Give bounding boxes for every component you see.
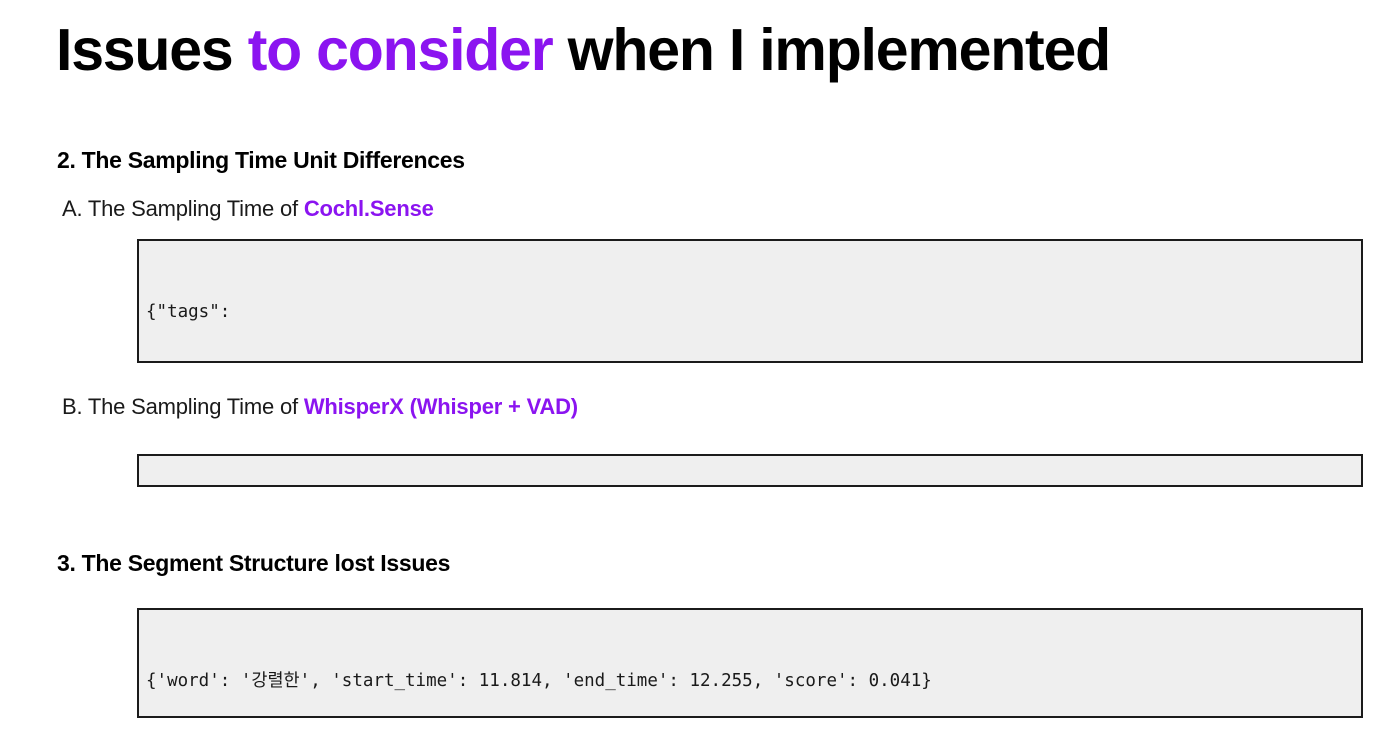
- subheading-a-prefix: A. The Sampling Time of: [62, 196, 304, 221]
- code-line: {'word': '강렬한', 'start_time': 11.814, 'e…: [146, 668, 1361, 694]
- section-heading-3: 3. The Segment Structure lost Issues: [57, 550, 450, 577]
- slide-title-accent: to consider: [248, 17, 553, 83]
- code-block-segment-structure: {'word': '강렬한', 'start_time': 11.814, 'e…: [137, 608, 1363, 718]
- slide-title-part2: when I implemented: [552, 17, 1109, 83]
- subheading-b-accent: WhisperX (Whisper + VAD): [304, 394, 578, 419]
- slide-title: Issues to consider when I implemented: [56, 17, 1110, 83]
- subheading-b: B. The Sampling Time of WhisperX (Whispe…: [62, 394, 578, 420]
- slide-title-part1: Issues: [56, 17, 248, 83]
- subheading-b-prefix: B. The Sampling Time of: [62, 394, 304, 419]
- code-block-cochl-sense: {"tags": [{"probability": 0.453152477741…: [137, 239, 1363, 363]
- subheading-a-accent: Cochl.Sense: [304, 196, 434, 221]
- section-heading-2: 2. The Sampling Time Unit Differences: [57, 147, 465, 174]
- subheading-a: A. The Sampling Time of Cochl.Sense: [62, 196, 434, 222]
- code-line: {"tags":: [146, 299, 1361, 325]
- code-block-whisperx: {'word': '강렬한', 'start_time': 11.814, 'e…: [137, 454, 1363, 487]
